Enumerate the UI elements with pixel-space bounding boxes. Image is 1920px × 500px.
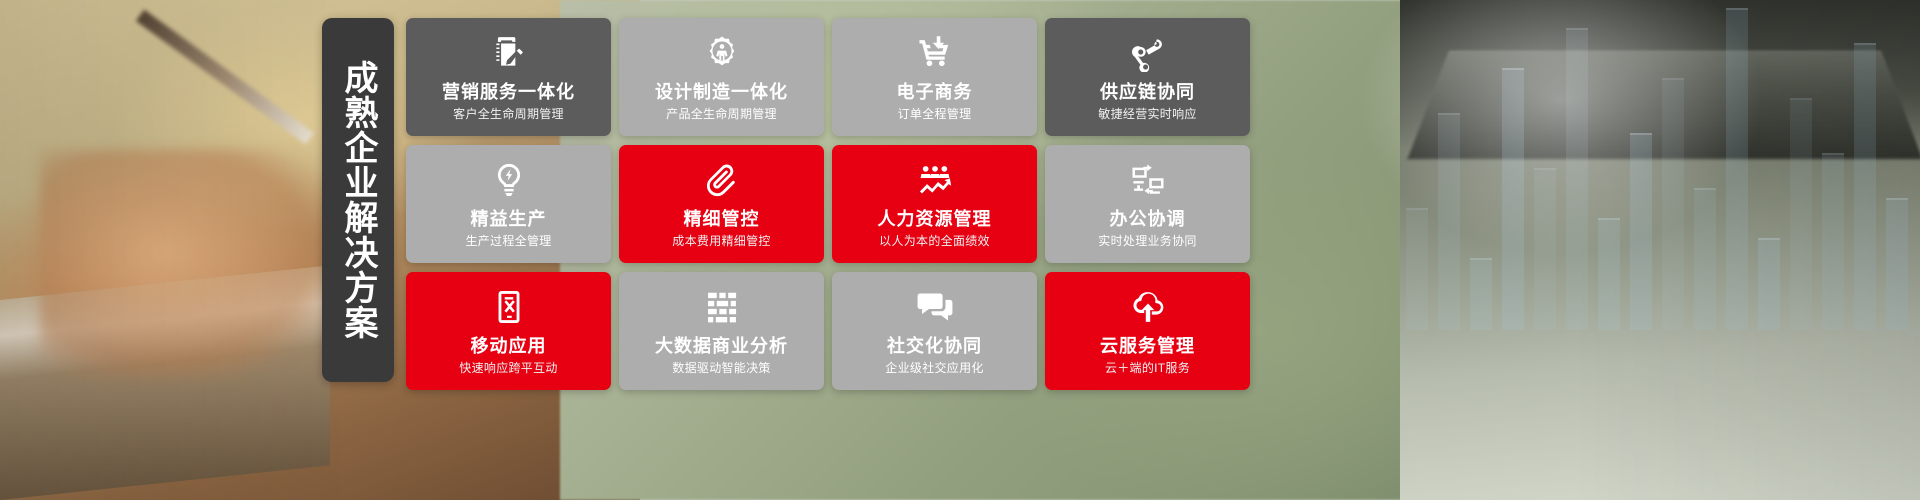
card-title: 营销服务一体化 <box>442 82 575 103</box>
chat-bubbles-icon <box>915 287 955 327</box>
solution-card[interactable]: 云服务管理云＋端的IT服务 <box>1045 272 1250 390</box>
people-growth-chart-icon <box>915 160 955 200</box>
page-title: 成熟企业解决方案 <box>340 60 376 340</box>
card-subtitle: 敏捷经营实时响应 <box>1098 107 1196 121</box>
solution-card[interactable]: 大数据商业分析数据驱动智能决策 <box>619 272 824 390</box>
card-title: 移动应用 <box>471 336 547 357</box>
gear-person-icon <box>702 33 742 73</box>
card-title: 人力资源管理 <box>878 209 992 230</box>
mobile-phone-icon <box>489 287 529 327</box>
card-title: 办公协调 <box>1110 209 1186 230</box>
cloud-upload-icon <box>1128 287 1168 327</box>
card-subtitle: 生产过程全管理 <box>465 234 551 248</box>
shopping-cart-download-icon <box>915 33 955 73</box>
card-subtitle: 成本费用精细管控 <box>672 234 770 248</box>
solution-card[interactable]: 社交化协同企业级社交应用化 <box>832 272 1037 390</box>
clipboard-edit-icon <box>489 33 529 73</box>
vertical-title-panel: 成熟企业解决方案 <box>322 18 394 382</box>
card-subtitle: 快速响应跨平互动 <box>459 361 557 375</box>
card-subtitle: 以人为本的全面绩效 <box>879 234 990 248</box>
solution-card[interactable]: 供应链协同敏捷经营实时响应 <box>1045 18 1250 136</box>
solution-card[interactable]: 办公协调实时处理业务协同 <box>1045 145 1250 263</box>
network-share-icon <box>1128 33 1168 73</box>
card-title: 云服务管理 <box>1100 336 1195 357</box>
solution-card[interactable]: 设计制造一体化产品全生命周期管理 <box>619 18 824 136</box>
card-subtitle: 产品全生命周期管理 <box>666 107 777 121</box>
paperclip-icon <box>702 160 742 200</box>
card-subtitle: 云＋端的IT服务 <box>1105 361 1190 375</box>
screens-sync-icon <box>1128 160 1168 200</box>
card-title: 大数据商业分析 <box>655 336 788 357</box>
solution-card[interactable]: 精益生产生产过程全管理 <box>406 145 611 263</box>
card-subtitle: 客户全生命周期管理 <box>453 107 564 121</box>
solution-card-grid: 营销服务一体化客户全生命周期管理设计制造一体化产品全生命周期管理电子商务订单全程… <box>406 18 1250 390</box>
card-subtitle: 实时处理业务协同 <box>1098 234 1196 248</box>
card-title: 电子商务 <box>897 82 973 103</box>
card-subtitle: 订单全程管理 <box>898 107 972 121</box>
card-subtitle: 数据驱动智能决策 <box>672 361 770 375</box>
card-title: 社交化协同 <box>887 336 982 357</box>
card-title: 设计制造一体化 <box>655 82 788 103</box>
data-blocks-icon <box>702 287 742 327</box>
card-title: 精细管控 <box>684 209 760 230</box>
solution-card[interactable]: 移动应用快速响应跨平互动 <box>406 272 611 390</box>
card-subtitle: 企业级社交应用化 <box>885 361 983 375</box>
lightbulb-bolt-icon <box>489 160 529 200</box>
solution-grid-stage: 成熟企业解决方案 营销服务一体化客户全生命周期管理设计制造一体化产品全生命周期管… <box>0 0 1920 500</box>
solution-card[interactable]: 人力资源管理以人为本的全面绩效 <box>832 145 1037 263</box>
card-title: 精益生产 <box>471 209 547 230</box>
solution-card[interactable]: 电子商务订单全程管理 <box>832 18 1037 136</box>
solution-card[interactable]: 精细管控成本费用精细管控 <box>619 145 824 263</box>
solution-card[interactable]: 营销服务一体化客户全生命周期管理 <box>406 18 611 136</box>
card-title: 供应链协同 <box>1100 82 1195 103</box>
